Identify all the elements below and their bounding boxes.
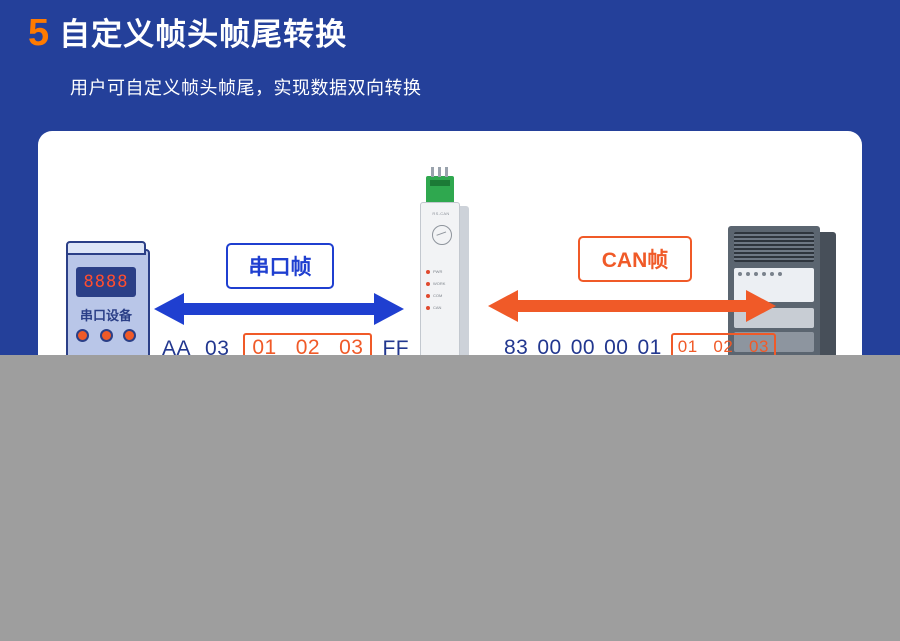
can-device-vent <box>734 232 814 262</box>
terminal-pin-icon <box>431 167 434 177</box>
led-icon <box>426 294 430 298</box>
serial-device-knobs <box>76 329 136 342</box>
converter-logo-icon <box>432 225 452 245</box>
knob-icon <box>76 329 89 342</box>
serial-arrow-icon <box>154 289 404 334</box>
page-background-lower <box>0 355 900 641</box>
header-banner: 5 自定义帧头帧尾转换 用户可自定义帧头帧尾，实现数据双向转换 8888 串口设… <box>0 0 900 355</box>
can-data-byte-2: 03 <box>749 337 769 356</box>
terminal-pin-icon <box>438 167 441 177</box>
indicator-dot-icon <box>770 272 774 276</box>
led-row: WORK <box>426 281 460 286</box>
serial-device-label: 串口设备 <box>68 305 144 324</box>
led-icon <box>426 282 430 286</box>
can-data-byte-0: 01 <box>678 337 698 356</box>
led-label: PWR <box>433 269 442 274</box>
page-title: 5 自定义帧头帧尾转换 <box>28 14 347 52</box>
led-icon <box>426 270 430 274</box>
serial-device-display-value: 8888 <box>76 267 136 297</box>
can-arrow-icon <box>488 286 776 331</box>
serial-device-screen: 8888 <box>76 267 136 297</box>
serial-device-top <box>66 241 146 255</box>
converter-brand: RS-CAN <box>421 211 461 216</box>
led-label: CAN <box>433 305 441 310</box>
indicator-dot-icon <box>746 272 750 276</box>
section-title: 自定义帧头帧尾转换 <box>59 19 347 50</box>
knob-icon <box>100 329 113 342</box>
serial-device-illustration: 8888 串口设备 <box>60 241 154 371</box>
can-frame-tag: CAN帧 <box>578 236 692 282</box>
indicator-dot-icon <box>754 272 758 276</box>
led-label: WORK <box>433 281 445 286</box>
indicator-dot-icon <box>738 272 742 276</box>
converter-led-panel: PWR WORK COM CAN <box>426 269 460 317</box>
converter-body: RS-CAN PWR WORK COM <box>420 202 460 362</box>
led-label: COM <box>433 293 442 298</box>
led-row: PWR <box>426 269 460 274</box>
led-row: CAN <box>426 305 460 310</box>
can-device-indicator-dots <box>738 272 786 276</box>
section-subtitle: 用户可自定义帧头帧尾，实现数据双向转换 <box>70 74 422 100</box>
can-data-byte-1: 02 <box>713 337 733 356</box>
terminal-pin-icon <box>445 167 448 177</box>
converter-terminal-block <box>426 176 454 202</box>
indicator-dot-icon <box>778 272 782 276</box>
knob-icon <box>123 329 136 342</box>
indicator-dot-icon <box>762 272 766 276</box>
section-number: 5 <box>28 14 49 52</box>
serial-frame-tag: 串口帧 <box>226 243 334 289</box>
converter-side-panel <box>460 206 469 358</box>
led-icon <box>426 306 430 310</box>
led-row: COM <box>426 293 460 298</box>
